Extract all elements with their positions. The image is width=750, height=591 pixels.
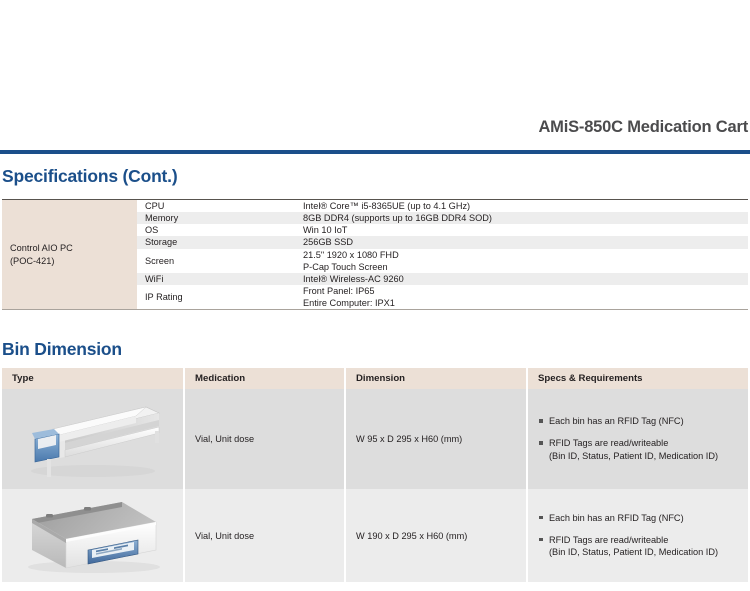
spec-key-memory: Memory	[137, 212, 295, 224]
spec-category-line1: Control AIO PC	[10, 242, 137, 254]
spec-value-wifi: Intel® Wireless-AC 9260	[295, 273, 748, 285]
bin-medication-wide: Vial, Unit dose	[184, 489, 345, 582]
spec-category-cell: Control AIO PC (POC-421)	[2, 200, 137, 310]
spec-value-ip-line1: Front Panel: IP65	[303, 285, 748, 297]
requirement-line2: (Bin ID, Status, Patient ID, Medication …	[549, 547, 718, 557]
bin-dimension-narrow: W 95 x D 295 x H60 (mm)	[345, 389, 527, 489]
document-title: AMiS-850C Medication Cart	[538, 118, 748, 137]
list-item: RFID Tags are read/writeable (Bin ID, St…	[538, 437, 748, 462]
requirements-list: Each bin has an RFID Tag (NFC) RFID Tags…	[538, 512, 748, 559]
section-heading-bin-dimension: Bin Dimension	[2, 339, 122, 360]
wide-bin-illustration	[10, 490, 175, 582]
spec-row-cpu: Control AIO PC (POC-421) CPU Intel® Core…	[2, 200, 748, 213]
requirement-line1: Each bin has an RFID Tag (NFC)	[549, 513, 684, 523]
spec-value-storage: 256GB SSD	[295, 236, 748, 248]
spec-key-wifi: WiFi	[137, 273, 295, 285]
spec-value-screen: 21.5" 1920 x 1080 FHD P-Cap Touch Screen	[295, 249, 748, 273]
header-rule	[0, 150, 750, 154]
spec-key-screen: Screen	[137, 249, 295, 273]
spec-value-ip-line2: Entire Computer: IPX1	[303, 297, 748, 309]
spec-key-ip-rating: IP Rating	[137, 285, 295, 310]
requirement-line1: RFID Tags are read/writeable	[549, 535, 668, 545]
bin-image-cell-wide	[2, 489, 184, 582]
spec-value-ip-rating: Front Panel: IP65 Entire Computer: IPX1	[295, 285, 748, 310]
table-row: Vial, Unit dose W 190 x D 295 x H60 (mm)…	[2, 489, 748, 582]
bin-dimension-table: Type Medication Dimension Specs & Requir…	[2, 368, 748, 582]
spec-key-storage: Storage	[137, 236, 295, 248]
spec-value-cpu: Intel® Core™ i5-8365UE (up to 4.1 GHz)	[295, 200, 748, 213]
specifications-table: Control AIO PC (POC-421) CPU Intel® Core…	[2, 199, 748, 310]
spec-value-memory: 8GB DDR4 (supports up to 16GB DDR4 SOD)	[295, 212, 748, 224]
bin-medication-narrow: Vial, Unit dose	[184, 389, 345, 489]
spec-value-screen-line2: P-Cap Touch Screen	[303, 261, 748, 273]
bin-header-specs: Specs & Requirements	[527, 368, 748, 389]
bin-dimension-wide: W 190 x D 295 x H60 (mm)	[345, 489, 527, 582]
requirement-line1: Each bin has an RFID Tag (NFC)	[549, 416, 684, 426]
section-heading-specifications: Specifications (Cont.)	[2, 166, 177, 187]
spec-key-os: OS	[137, 224, 295, 236]
bin-specs-cell-narrow: Each bin has an RFID Tag (NFC) RFID Tags…	[527, 389, 748, 489]
bin-image-cell-narrow	[2, 389, 184, 489]
narrow-bin-illustration	[13, 391, 173, 487]
requirement-line1: RFID Tags are read/writeable	[549, 438, 668, 448]
list-item: RFID Tags are read/writeable (Bin ID, St…	[538, 534, 748, 559]
spec-value-screen-line1: 21.5" 1920 x 1080 FHD	[303, 249, 748, 261]
list-item: Each bin has an RFID Tag (NFC)	[538, 415, 748, 428]
spec-category-line2: (POC-421)	[10, 255, 137, 267]
table-row: Vial, Unit dose W 95 x D 295 x H60 (mm) …	[2, 389, 748, 489]
spec-value-os: Win 10 IoT	[295, 224, 748, 236]
bin-header-medication: Medication	[184, 368, 345, 389]
requirement-line2: (Bin ID, Status, Patient ID, Medication …	[549, 451, 718, 461]
spec-key-cpu: CPU	[137, 200, 295, 213]
list-item: Each bin has an RFID Tag (NFC)	[538, 512, 748, 525]
bin-table-header-row: Type Medication Dimension Specs & Requir…	[2, 368, 748, 389]
bin-header-dimension: Dimension	[345, 368, 527, 389]
requirements-list: Each bin has an RFID Tag (NFC) RFID Tags…	[538, 415, 748, 462]
bin-specs-cell-wide: Each bin has an RFID Tag (NFC) RFID Tags…	[527, 489, 748, 582]
bin-header-type: Type	[2, 368, 184, 389]
